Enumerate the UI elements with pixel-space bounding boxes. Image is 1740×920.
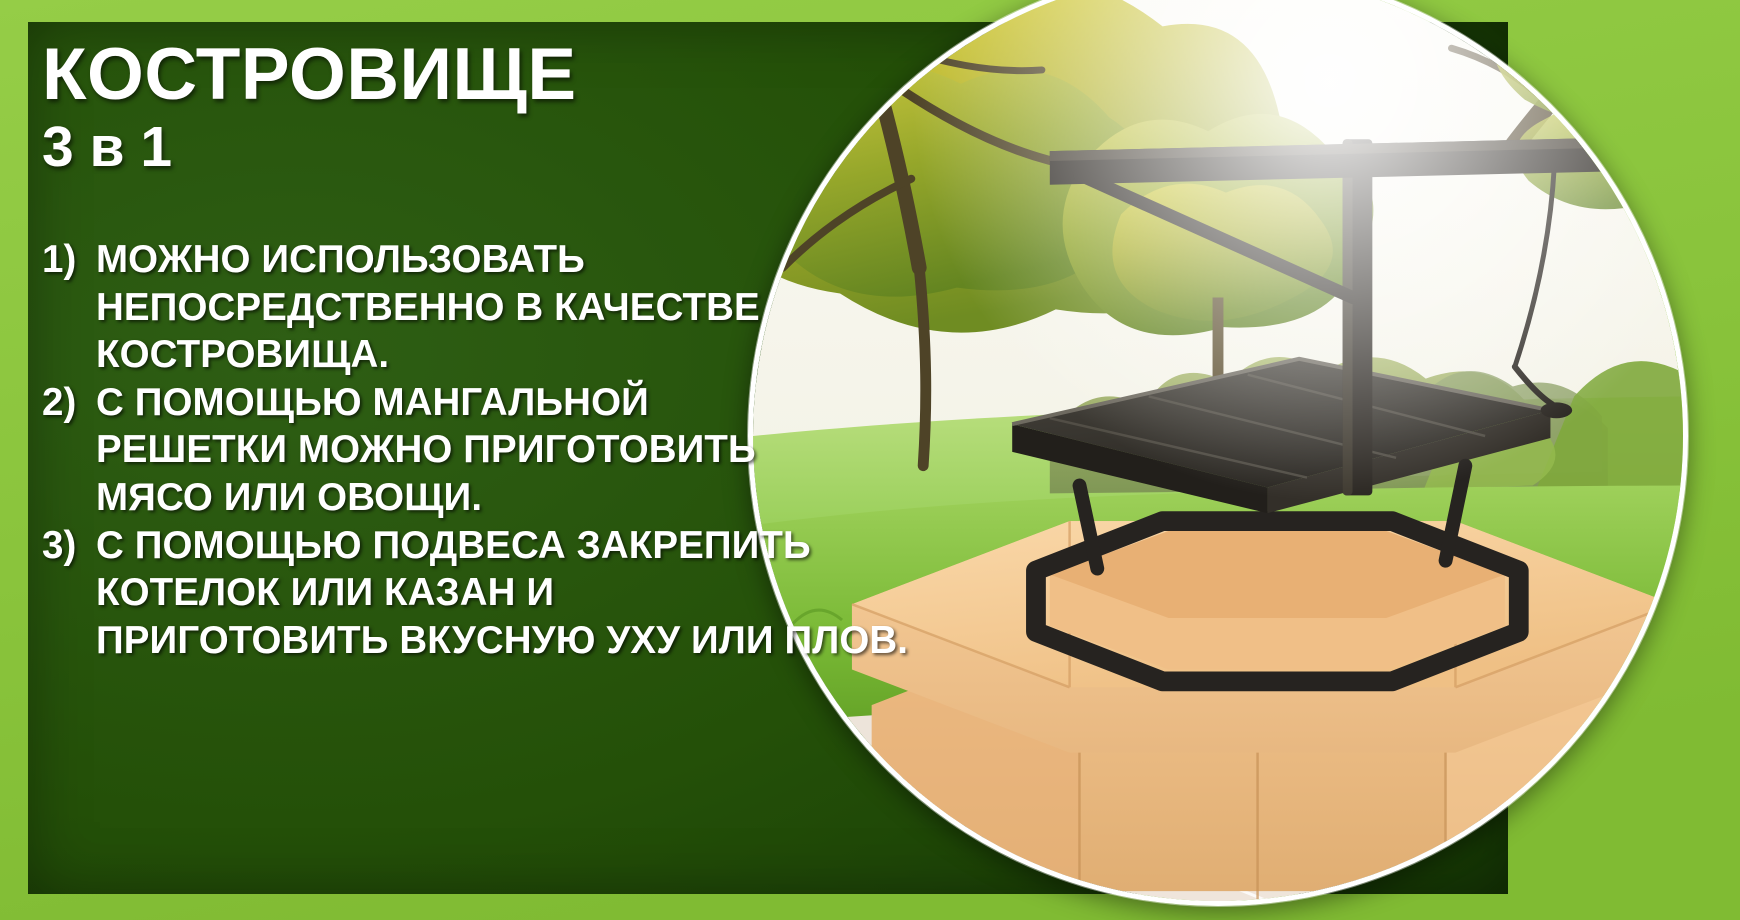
poster: КОСТРОВИЩЕ 3 в 1 1) МОЖНО ИСПОЛЬЗОВАТЬ Н… [0, 0, 1740, 920]
list-item-text: С ПОМОЩЬЮ МАНГАЛЬНОЙ РЕШЕТКИ МОЖНО ПРИГО… [96, 379, 942, 522]
feature-list: 1) МОЖНО ИСПОЛЬЗОВАТЬ НЕПОСРЕДСТВЕННО В … [42, 236, 942, 664]
list-item-text: МОЖНО ИСПОЛЬЗОВАТЬ НЕПОСРЕДСТВЕННО В КАЧ… [96, 236, 942, 379]
list-item-marker: 3) [42, 522, 96, 570]
page-subtitle: 3 в 1 [42, 118, 942, 178]
copy-block: КОСТРОВИЩЕ 3 в 1 1) МОЖНО ИСПОЛЬЗОВАТЬ Н… [42, 38, 942, 664]
list-item-marker: 1) [42, 236, 96, 284]
list-item: 1) МОЖНО ИСПОЛЬЗОВАТЬ НЕПОСРЕДСТВЕННО В … [42, 236, 942, 379]
list-item: 2) С ПОМОЩЬЮ МАНГАЛЬНОЙ РЕШЕТКИ МОЖНО ПР… [42, 379, 942, 522]
list-item-marker: 2) [42, 379, 96, 427]
page-title: КОСТРОВИЩЕ [42, 38, 942, 112]
list-item-text: С ПОМОЩЬЮ ПОДВЕСА ЗАКРЕПИТЬ КОТЕЛОК ИЛИ … [96, 522, 942, 665]
list-item: 3) С ПОМОЩЬЮ ПОДВЕСА ЗАКРЕПИТЬ КОТЕЛОК И… [42, 522, 942, 665]
